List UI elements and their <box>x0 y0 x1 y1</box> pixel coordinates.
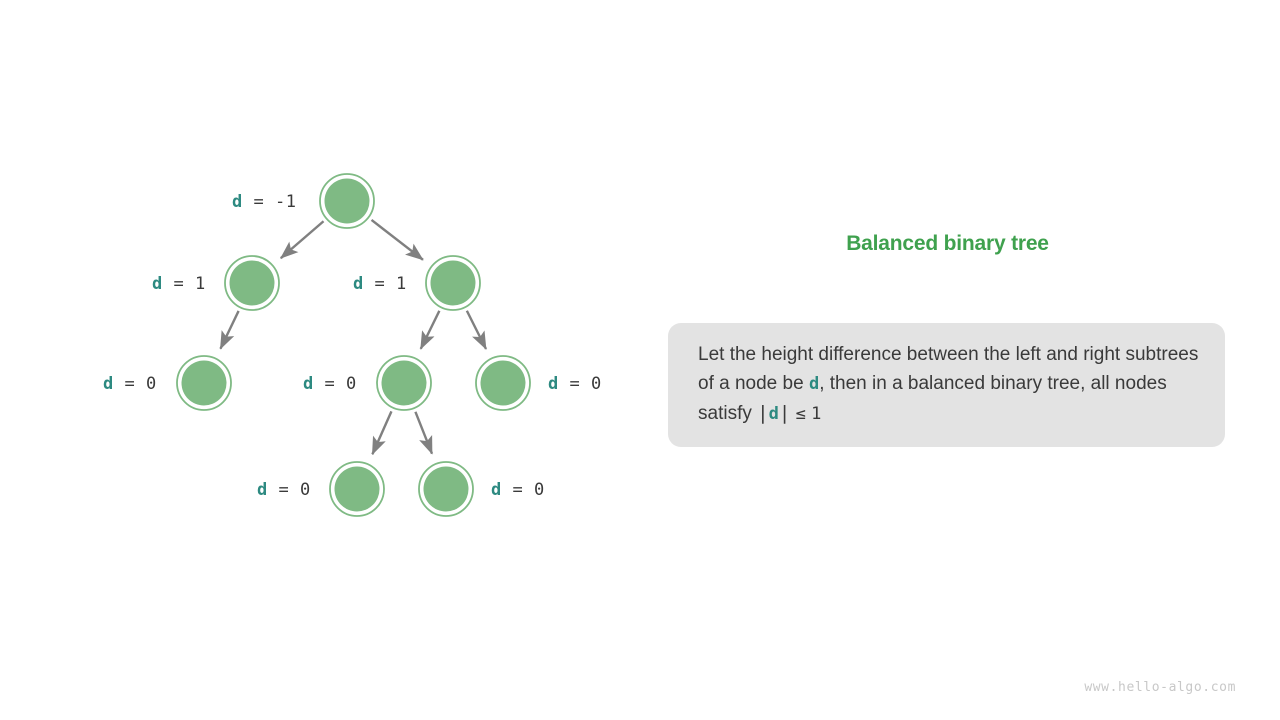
less-or-equal-operator: ≤ <box>796 404 806 424</box>
tree-edge <box>220 311 238 349</box>
definition-variable-d-2: d <box>769 404 779 424</box>
tree-node[interactable] <box>419 462 473 516</box>
node-height-diff-label: d = 0 <box>548 374 602 394</box>
node-label-value: = 1 <box>163 274 206 294</box>
tree-edge <box>415 412 432 454</box>
tree-node-disc <box>382 361 427 406</box>
info-panel: Balanced binary tree Let the height diff… <box>660 0 1280 720</box>
node-label-value: = 0 <box>268 480 311 500</box>
tree-edge <box>281 221 324 258</box>
tree-node[interactable] <box>377 356 431 410</box>
node-label-value: = 0 <box>114 374 157 394</box>
tree-node-disc <box>230 261 275 306</box>
tree-node[interactable] <box>476 356 530 410</box>
node-height-diff-label: d = 0 <box>257 480 311 500</box>
definition-variable-d-1: d <box>809 374 819 394</box>
node-label-value: = 0 <box>502 480 545 500</box>
tree-edge <box>467 311 486 349</box>
tree-node-disc <box>182 361 227 406</box>
node-label-value: = 1 <box>364 274 407 294</box>
node-label-variable: d <box>232 192 243 212</box>
tree-node-disc <box>325 179 370 224</box>
tree-node[interactable] <box>225 256 279 310</box>
node-label-variable: d <box>353 274 364 294</box>
tree-edge <box>421 311 440 349</box>
node-label-value: = 0 <box>314 374 357 394</box>
node-label-variable: d <box>548 374 559 394</box>
tree-node[interactable] <box>426 256 480 310</box>
tree-diagram: d = -1d = 1d = 1d = 0d = 0d = 0d = 0d = … <box>0 0 660 720</box>
node-height-diff-label: d = 1 <box>353 274 407 294</box>
node-label-variable: d <box>257 480 268 500</box>
node-label-value: = -1 <box>243 192 297 212</box>
tree-node-disc <box>424 467 469 512</box>
page-title: Balanced binary tree <box>660 232 1235 256</box>
node-height-diff-label: d = -1 <box>232 192 296 212</box>
node-label-variable: d <box>103 374 114 394</box>
definition-box: Let the height difference between the le… <box>668 323 1225 447</box>
tree-node[interactable] <box>320 174 374 228</box>
tree-graph-svg <box>0 0 660 720</box>
abs-bar-open: | <box>757 402 768 424</box>
definition-text: Let the height difference between the le… <box>698 340 1203 429</box>
tree-node-disc <box>431 261 476 306</box>
node-label-variable: d <box>491 480 502 500</box>
node-height-diff-label: d = 1 <box>152 274 206 294</box>
node-label-variable: d <box>303 374 314 394</box>
tree-edges <box>220 220 486 454</box>
tree-edge <box>372 411 391 454</box>
site-watermark: www.hello-algo.com <box>1084 680 1236 695</box>
tree-edge <box>372 220 423 260</box>
node-height-diff-label: d = 0 <box>491 480 545 500</box>
tree-node[interactable] <box>177 356 231 410</box>
node-label-value: = 0 <box>559 374 602 394</box>
node-height-diff-label: d = 0 <box>103 374 157 394</box>
node-height-diff-label: d = 0 <box>303 374 357 394</box>
tree-nodes <box>177 174 530 516</box>
tree-node-disc <box>481 361 526 406</box>
tree-node-disc <box>335 467 380 512</box>
tree-node[interactable] <box>330 462 384 516</box>
bound-value: 1 <box>811 404 821 424</box>
abs-bar-close: | <box>779 402 790 424</box>
node-label-variable: d <box>152 274 163 294</box>
